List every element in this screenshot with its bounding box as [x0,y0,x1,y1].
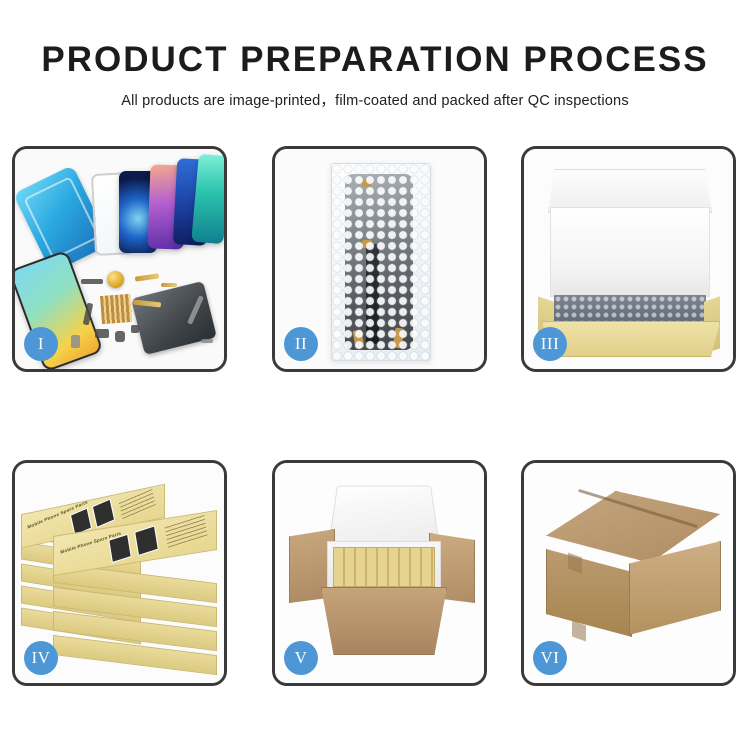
page-header: PRODUCT PREPARATION PROCESS All products… [0,0,750,110]
process-step-6[interactable]: VI [521,460,736,686]
chip-array-icon [100,294,132,324]
page-title: PRODUCT PREPARATION PROCESS [0,0,750,80]
step-badge: VI [533,641,567,675]
step-badge: III [533,327,567,361]
process-step-4[interactable]: Mobile Phone Spare Parts Mobile Phone Sp… [12,460,227,686]
carton-front-icon [321,587,447,655]
process-step-5[interactable]: V [272,460,487,686]
process-step-1[interactable]: I [12,146,227,372]
bubble-bag-icon [331,163,431,361]
page-subtitle: All products are image-printed，film-coat… [0,80,750,110]
process-step-3[interactable]: III [521,146,736,372]
foam-sheet-icon [550,207,710,297]
process-step-grid: I II III [12,146,738,686]
packed-boxes-icon [333,547,435,587]
step-badge: II [284,327,318,361]
gold-component-icon [107,271,124,288]
foam-lid-icon [328,486,440,546]
bubble-wrap-contents-icon [554,295,706,325]
step-badge: IV [24,641,58,675]
step-badge: I [24,327,58,361]
process-step-2[interactable]: II [272,146,487,372]
box-front-icon [542,321,720,357]
step-badge: V [284,641,318,675]
